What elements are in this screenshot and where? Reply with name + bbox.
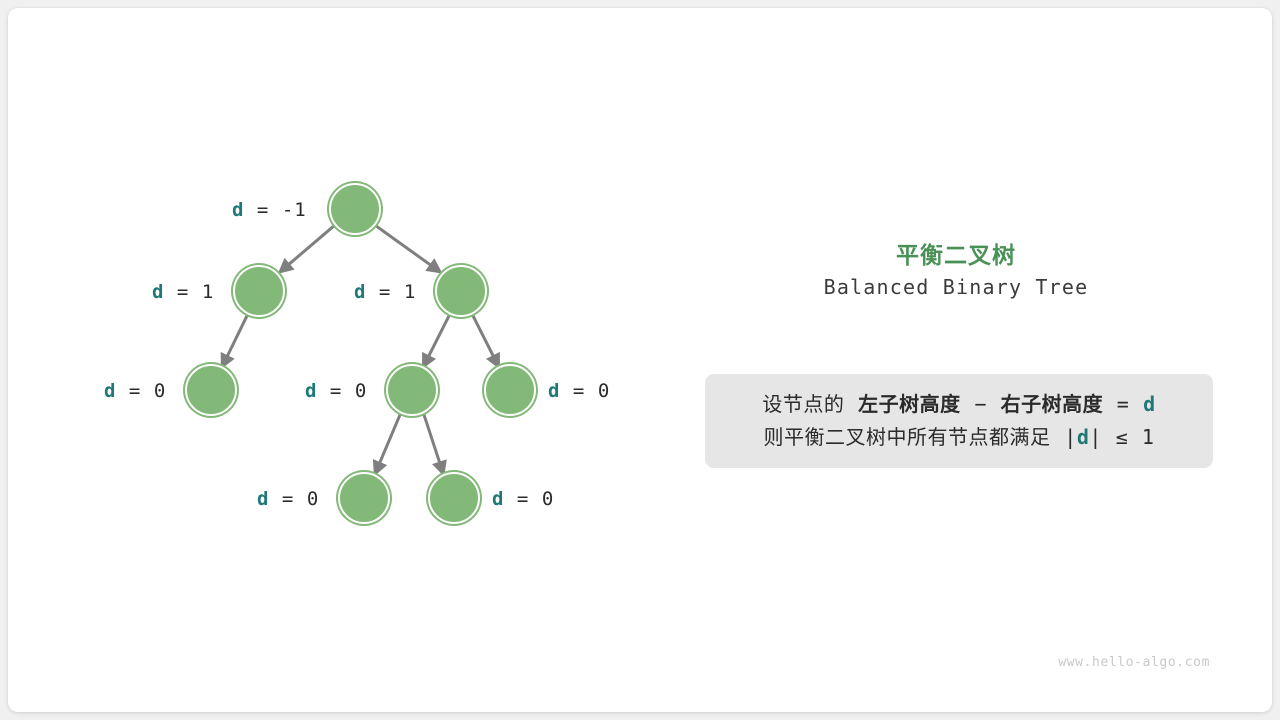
balance-var: d [232,199,244,221]
balance-eq: = [330,380,342,402]
definition-line-1: 设节点的 左子树高度 − 右子树高度 = d [705,388,1213,421]
balance-eq: = [379,281,391,303]
balance-label-left-left: d = 0 [104,380,166,402]
balance-var: d [257,488,269,510]
tree-node-root[interactable] [329,183,381,235]
definition-box: 设节点的 左子树高度 − 右子树高度 = d 则平衡二叉树中所有节点都满足 |d… [705,374,1213,468]
balance-eq: = [517,488,529,510]
tree-node-right-left-right[interactable] [428,472,480,524]
balance-label-right-right: d = 0 [548,380,610,402]
balance-value: 0 [355,380,367,402]
balance-value: 0 [598,380,610,402]
tree-node-left-left[interactable] [185,364,237,416]
edge-root-left [281,226,334,271]
definition-line-2: 则平衡二叉树中所有节点都满足 |d| ≤ 1 [705,421,1213,454]
balance-value: 1 [202,281,214,303]
bound-value: 1 [1142,425,1155,449]
less-equal-operator: ≤ [1116,425,1129,449]
balance-var: d [354,281,366,303]
right-subtree-height-term: 右子树高度 [1001,392,1104,416]
balance-var: d [104,380,116,402]
balance-value: 0 [154,380,166,402]
edge-root-right [376,226,439,271]
tree-node-right-left-left[interactable] [338,472,390,524]
balance-factor-var: d [1077,425,1090,449]
balance-eq: = [257,199,269,221]
tree-node-right-right[interactable] [484,364,536,416]
balance-eq: = [177,281,189,303]
abs-bar-open: | [1064,425,1077,449]
edge-right-rightchild [473,316,498,366]
tree-node-left[interactable] [233,265,285,317]
definition-prefix: 设节点的 [762,392,844,416]
balance-label-right: d = 1 [354,281,416,303]
edge-rl-rightchild [424,415,443,473]
balance-var: d [305,380,317,402]
balance-label-right-left-right: d = 0 [492,488,554,510]
balance-value: -1 [282,199,307,221]
left-subtree-height-term: 左子树高度 [858,392,961,416]
balance-label-right-left: d = 0 [305,380,367,402]
balance-value: 0 [542,488,554,510]
balance-eq: = [573,380,585,402]
edge-left-leftchild [223,316,247,366]
balance-factor-var: d [1143,392,1156,416]
balance-eq: = [282,488,294,510]
screenshot-root: d = -1 d = 1 d = 1 d = 0 d = [0,0,1280,720]
edge-rl-leftchild [376,415,401,473]
binary-tree-diagram: d = -1 d = 1 d = 1 d = 0 d = [8,8,668,712]
info-panel: 平衡二叉树 Balanced Binary Tree 设节点的 左子树高度 − … [668,8,1280,712]
panel-title: 平衡二叉树 [668,236,1244,270]
balance-eq: = [129,380,141,402]
balance-value: 0 [307,488,319,510]
edge-right-leftchild [424,316,449,366]
tree-node-right[interactable] [435,265,487,317]
balance-value: 1 [404,281,416,303]
minus-operator: − [974,392,987,416]
content-card: d = -1 d = 1 d = 1 d = 0 d = [8,8,1272,712]
definition-statement: 则平衡二叉树中所有节点都满足 [764,425,1051,449]
panel-subtitle: Balanced Binary Tree [668,275,1244,299]
abs-bar-close: | [1089,425,1102,449]
watermark: www.hello-algo.com [1058,655,1210,670]
balance-label-left: d = 1 [152,281,214,303]
balance-var: d [492,488,504,510]
balance-label-right-left-left: d = 0 [257,488,319,510]
tree-edges-layer [8,8,668,712]
equals-operator: = [1117,392,1130,416]
balance-var: d [152,281,164,303]
tree-node-right-left[interactable] [386,364,438,416]
balance-label-root: d = -1 [232,199,307,221]
balance-var: d [548,380,560,402]
